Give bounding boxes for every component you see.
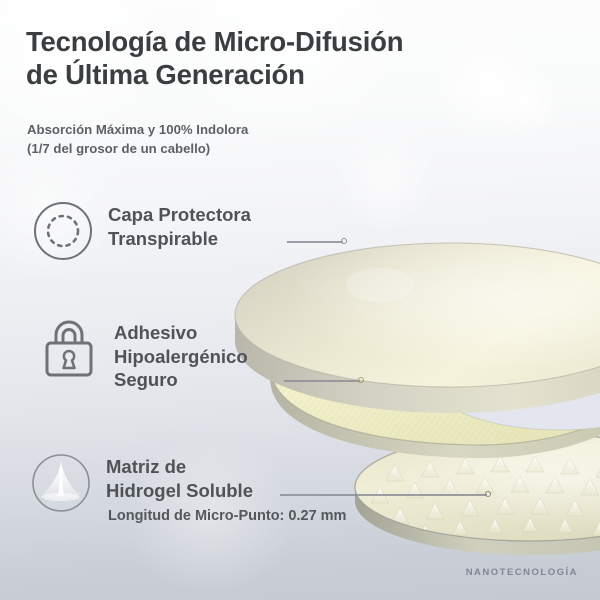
leader-line-protective-layer [287,241,343,243]
feature-protective-layer: Capa Protectora Transpirable [32,200,251,262]
adhesive-ring-disc [260,275,600,458]
feature-label: Adhesivo Hipoalergénico Seguro [114,318,248,392]
lock-icon [38,318,100,380]
brandmark-label: NANOTECNOLOGÍA [466,567,578,578]
light-bokeh [495,70,565,138]
feature-label: Matriz de Hidrogel Soluble [106,452,253,502]
feature-label: Capa Protectora Transpirable [108,200,251,250]
microneedle-cone-icon [30,452,92,514]
adhesive-ring-hole [428,326,600,430]
infographic-root: Tecnología de Micro-Difusión de Última G… [0,0,600,600]
leader-endpoint-dot [358,377,364,383]
leader-line-adhesive [284,380,360,382]
page-title: Tecnología de Micro-Difusión de Última G… [26,25,496,91]
feature-hydrogel: Matriz de Hidrogel Soluble [30,452,253,514]
micro-point-length-label: Longitud de Micro-Punto: 0.27 mm [108,508,346,524]
breathable-dotted-circle-icon [32,200,94,262]
leader-endpoint-dot [341,238,347,244]
leader-endpoint-dot [485,491,491,497]
protective-top-disc [235,243,600,413]
exploded-microneedle-patch-illustration [230,135,600,555]
feature-adhesive: Adhesivo Hipoalergénico Seguro [38,318,248,392]
microneedle-array [371,456,600,539]
leader-line-hydrogel [280,494,487,496]
page-subtitle: Absorción Máxima y 100% Indolora (1/7 de… [27,121,427,158]
